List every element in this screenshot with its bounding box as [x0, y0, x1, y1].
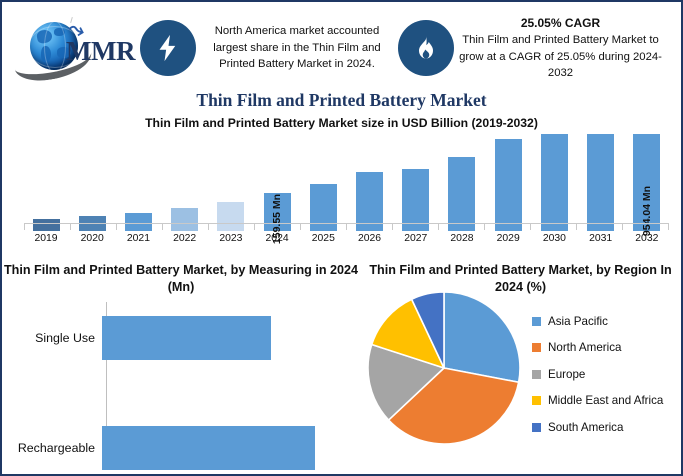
axis-tick	[484, 224, 485, 230]
x-tick-2027: 2027	[394, 233, 438, 244]
legend-label: South America	[548, 421, 623, 434]
bar-column	[440, 134, 484, 231]
axis-tick	[116, 224, 117, 230]
x-axis-tick-labels: 2019202020212022202320242025202620272028…	[24, 233, 669, 244]
x-tick-2028: 2028	[440, 233, 484, 244]
page-title: Thin Film and Printed Battery Market	[2, 90, 681, 111]
header-bar: ⤳ MMR North America market accounted lar…	[2, 2, 681, 94]
x-axis-line	[24, 223, 669, 231]
legend-swatch	[532, 370, 541, 379]
measuring-bar-chart: Thin Film and Printed Battery Market, by…	[2, 258, 360, 474]
x-tick-2032: 2032	[625, 233, 669, 244]
legend-label: North America	[548, 341, 621, 354]
measuring-plot-area: Single Use Rechargeable	[2, 302, 360, 468]
company-logo: ⤳ MMR	[8, 6, 140, 90]
market-size-bar-chart: Thin Film and Printed Battery Market siz…	[2, 114, 681, 254]
bar-chart-title: Thin Film and Printed Battery Market siz…	[2, 116, 681, 130]
axis-tick	[392, 224, 393, 230]
bar-2031	[587, 134, 614, 231]
bar-row-rechargeable: Rechargeable	[2, 426, 360, 470]
logo-tick-mark: ⤳	[70, 17, 73, 23]
bar-chart-plot: 159.55 Mn954.04 Mn	[24, 134, 669, 231]
flame-icon	[398, 20, 454, 76]
x-tick-2030: 2030	[532, 233, 576, 244]
cagr-note: 25.05% CAGR Thin Film and Printed Batter…	[454, 15, 667, 82]
legend-label: Asia Pacific	[548, 315, 608, 328]
logo-text: ⤳ MMR	[66, 36, 135, 67]
x-tick-2029: 2029	[486, 233, 530, 244]
bar-column	[24, 134, 68, 231]
legend-swatch	[532, 317, 541, 326]
x-tick-2024: 2024	[255, 233, 299, 244]
bar-column	[209, 134, 253, 231]
x-tick-2020: 2020	[70, 233, 114, 244]
pie-slices	[368, 292, 520, 444]
bar-column	[486, 134, 530, 231]
legend-item-north-america: North America	[532, 335, 682, 362]
bar-column	[301, 134, 345, 231]
axis-tick	[668, 224, 669, 230]
axis-tick	[576, 224, 577, 230]
x-tick-2019: 2019	[24, 233, 68, 244]
x-tick-2022: 2022	[163, 233, 207, 244]
pie-legend: Asia PacificNorth AmericaEuropeMiddle Ea…	[532, 308, 682, 441]
bar-column	[348, 134, 392, 231]
axis-tick	[438, 224, 439, 230]
axis-tick	[346, 224, 347, 230]
legend-item-asia-pacific: Asia Pacific	[532, 308, 682, 335]
lightning-bolt-icon	[140, 20, 196, 76]
cagr-headline: 25.05% CAGR	[458, 15, 663, 32]
legend-item-south-america: South America	[532, 414, 682, 441]
axis-tick	[162, 224, 163, 230]
pie-slice-asia-pacific	[444, 292, 520, 382]
bar-2027	[402, 169, 429, 231]
pie-chart-title: Thin Film and Printed Battery Market, by…	[360, 258, 681, 296]
cagr-description: Thin Film and Printed Battery Market to …	[459, 34, 662, 79]
axis-tick	[70, 224, 71, 230]
axis-tick	[300, 224, 301, 230]
bar-column: 954.04 Mn	[625, 134, 669, 231]
bar-label-single-use: Single Use	[2, 331, 102, 345]
bar-rechargeable	[102, 426, 315, 470]
x-tick-2025: 2025	[301, 233, 345, 244]
bar-row-single-use: Single Use	[2, 316, 360, 360]
region-pie-chart: Thin Film and Printed Battery Market, by…	[360, 258, 681, 474]
bar-series: 159.55 Mn954.04 Mn	[24, 134, 669, 231]
axis-tick	[24, 224, 25, 230]
x-tick-2026: 2026	[348, 233, 392, 244]
bar-column	[116, 134, 160, 231]
bar-column	[579, 134, 623, 231]
bar-single-use	[102, 316, 271, 360]
bar-2030	[541, 134, 568, 231]
bar-2032: 954.04 Mn	[633, 134, 660, 231]
axis-tick	[254, 224, 255, 230]
bar-column: 159.55 Mn	[255, 134, 299, 231]
infographic-frame: ⤳ MMR North America market accounted lar…	[0, 0, 683, 476]
legend-swatch	[532, 343, 541, 352]
bar-column	[532, 134, 576, 231]
x-tick-2023: 2023	[209, 233, 253, 244]
north-america-note: North America market accounted largest s…	[196, 23, 398, 73]
legend-item-middle-east-and-africa: Middle East and Africa	[532, 388, 682, 415]
legend-label: Middle East and Africa	[548, 394, 663, 407]
axis-tick	[622, 224, 623, 230]
bar-column	[163, 134, 207, 231]
axis-tick	[530, 224, 531, 230]
bar-column	[394, 134, 438, 231]
legend-item-europe: Europe	[532, 361, 682, 388]
legend-swatch	[532, 423, 541, 432]
bar-column	[70, 134, 114, 231]
bottom-charts-row: Thin Film and Printed Battery Market, by…	[2, 258, 681, 474]
bar-2028	[448, 157, 475, 231]
measuring-chart-title: Thin Film and Printed Battery Market, by…	[2, 258, 360, 296]
x-tick-2031: 2031	[579, 233, 623, 244]
axis-tick	[208, 224, 209, 230]
legend-swatch	[532, 396, 541, 405]
bar-2029	[495, 139, 522, 231]
bar-label-rechargeable: Rechargeable	[2, 441, 102, 455]
x-tick-2021: 2021	[116, 233, 160, 244]
legend-label: Europe	[548, 368, 585, 381]
